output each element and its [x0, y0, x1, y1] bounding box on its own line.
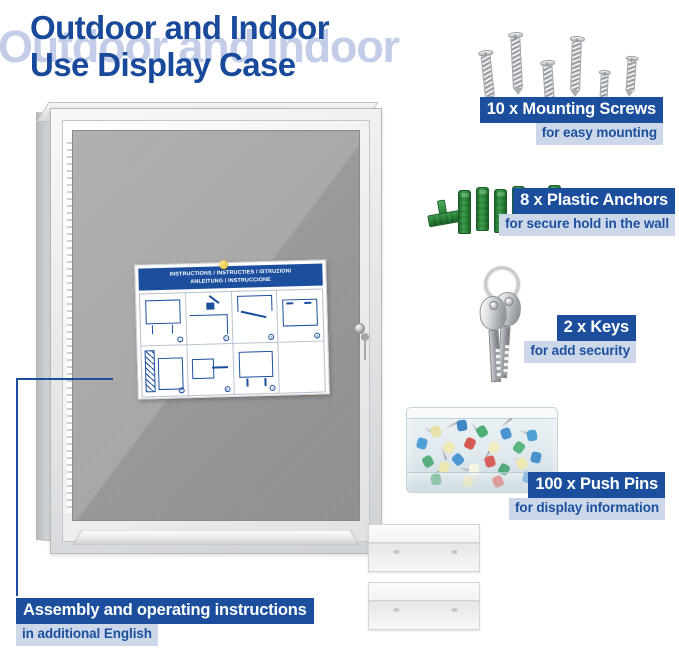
pushpin-icon: [429, 425, 442, 439]
step-number: 1: [177, 336, 183, 342]
leader-line-vertical: [16, 378, 18, 596]
callout-screws-secondary-row: for easy mounting: [300, 123, 663, 144]
callout-instructions-secondary: in additional English: [16, 624, 158, 645]
pushpin-icon: [463, 436, 477, 450]
infographic-canvas: Outdoor and Indoor Outdoor and Indoor Us…: [0, 0, 679, 652]
screw-icon: [570, 36, 585, 97]
callout-anchors-primary: 8 x Plastic Anchors: [513, 188, 675, 214]
step-number: 7: [270, 385, 276, 391]
callout-pins-primary-row: 100 x Push Pins: [300, 472, 665, 498]
instruction-step-grid: 1 2 3 4: [139, 289, 326, 398]
pushpin-icon: [530, 451, 542, 464]
pushpin-icon: [484, 455, 497, 468]
callout-anchors-secondary: for secure hold in the wall: [499, 214, 675, 235]
pushpin-icon: [526, 429, 538, 442]
callout-cleats: French Cleat Hanger sturdy and durable t…: [300, 598, 679, 646]
callout-anchors-primary-row: 8 x Plastic Anchors: [300, 188, 675, 214]
container-rim: [407, 408, 557, 419]
instruction-sheet-header: INSTRUCTIONS / INSTRUCTIES / ISTRUZIONI …: [138, 263, 323, 290]
step-number: 5: [178, 388, 184, 394]
page-title: Outdoor and Indoor Outdoor and Indoor Us…: [30, 8, 450, 98]
pushpin-icon: [416, 437, 429, 450]
callout-keys-primary-row: 2 x Keys: [300, 315, 636, 341]
title-main-text: Outdoor and Indoor Use Display Case: [30, 10, 329, 84]
callout-screws: 10 x Mounting Screws for easy mounting: [300, 97, 663, 145]
cleat-bar: [368, 524, 480, 572]
callout-keys: 2 x Keys for add security: [300, 315, 636, 363]
callout-anchors-secondary-row: for secure hold in the wall: [300, 214, 675, 235]
step-number: 3: [268, 334, 274, 340]
callout-screws-secondary: for easy mounting: [536, 123, 663, 144]
callout-pins-primary: 100 x Push Pins: [528, 472, 665, 498]
screw-icon: [510, 32, 526, 96]
pushpin-icon: [515, 457, 528, 471]
screw-icon: [625, 56, 638, 98]
screw-icon: [480, 49, 498, 103]
step-number: 2: [223, 335, 229, 341]
callout-keys-primary: 2 x Keys: [557, 315, 636, 341]
key-icon: [479, 295, 510, 382]
title-line-1: Outdoor and Indoor: [30, 10, 329, 47]
pushpin-icon: [475, 424, 489, 439]
callout-pins-secondary: for display information: [509, 498, 665, 519]
step-number: 6: [224, 386, 230, 392]
pushpin-icon: [456, 419, 467, 431]
instruction-step-1: 1: [140, 294, 186, 346]
callout-instructions-primary: Assembly and operating instructions: [16, 598, 314, 624]
pushpin-icon: [421, 454, 435, 468]
pushpin-icon: [488, 441, 500, 454]
title-line-2: Use Display Case: [30, 47, 329, 84]
callout-instructions: Assembly and operating instructions in a…: [16, 598, 314, 646]
pushpin-icon: [500, 427, 513, 441]
instruction-step-2: 2: [186, 292, 232, 344]
pushpin-icon: [451, 452, 466, 467]
callout-cleats-secondary-row: sturdy and durable to support: [300, 624, 679, 645]
callout-anchors: 8 x Plastic Anchors for secure hold in t…: [300, 188, 675, 236]
callout-instructions-secondary-row: in additional English: [16, 624, 314, 645]
case-bottom-lip: [73, 530, 359, 545]
instruction-step-3: 3: [231, 291, 277, 343]
instruction-step-5: 5: [141, 345, 187, 397]
callout-screws-primary-row: 10 x Mounting Screws: [300, 97, 663, 123]
callout-cleats-primary-row: French Cleat Hanger: [300, 598, 679, 624]
callout-pins: 100 x Push Pins for display information: [300, 472, 665, 520]
callout-instructions-primary-row: Assembly and operating instructions: [16, 598, 314, 624]
instruction-step-7: 7: [233, 342, 279, 394]
leader-line-horizontal: [16, 378, 113, 380]
callout-screws-primary: 10 x Mounting Screws: [480, 97, 663, 123]
instruction-step-6: 6: [187, 344, 233, 396]
pushpin-icon: [512, 440, 527, 455]
callout-keys-secondary-row: for add security: [300, 341, 636, 362]
callout-pins-secondary-row: for display information: [300, 498, 665, 519]
callout-keys-secondary: for add security: [524, 341, 636, 362]
mounting-screws-image: [478, 28, 663, 100]
